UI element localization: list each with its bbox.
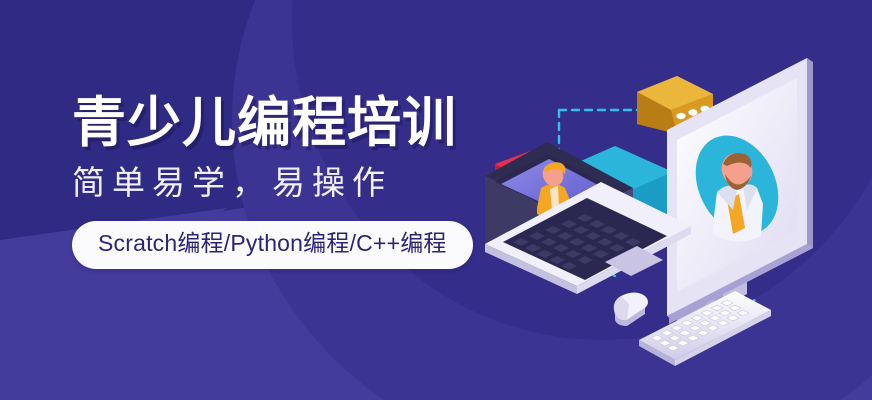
banner-headline: 青少儿编程培训 bbox=[72, 96, 492, 151]
course-list-pill[interactable]: Scratch编程/Python编程/C++编程 bbox=[72, 221, 473, 269]
banner-subheadline: 简单易学，易操作 bbox=[72, 165, 492, 201]
mouse-device bbox=[614, 293, 648, 327]
banner-copy-block: 青少儿编程培训 简单易学，易操作 Scratch编程/Python编程/C++编… bbox=[72, 96, 492, 269]
promo-banner: 青少儿编程培训 简单易学，易操作 Scratch编程/Python编程/C++编… bbox=[0, 0, 872, 400]
illustration-group bbox=[455, 48, 855, 378]
laptop-device bbox=[485, 142, 691, 294]
